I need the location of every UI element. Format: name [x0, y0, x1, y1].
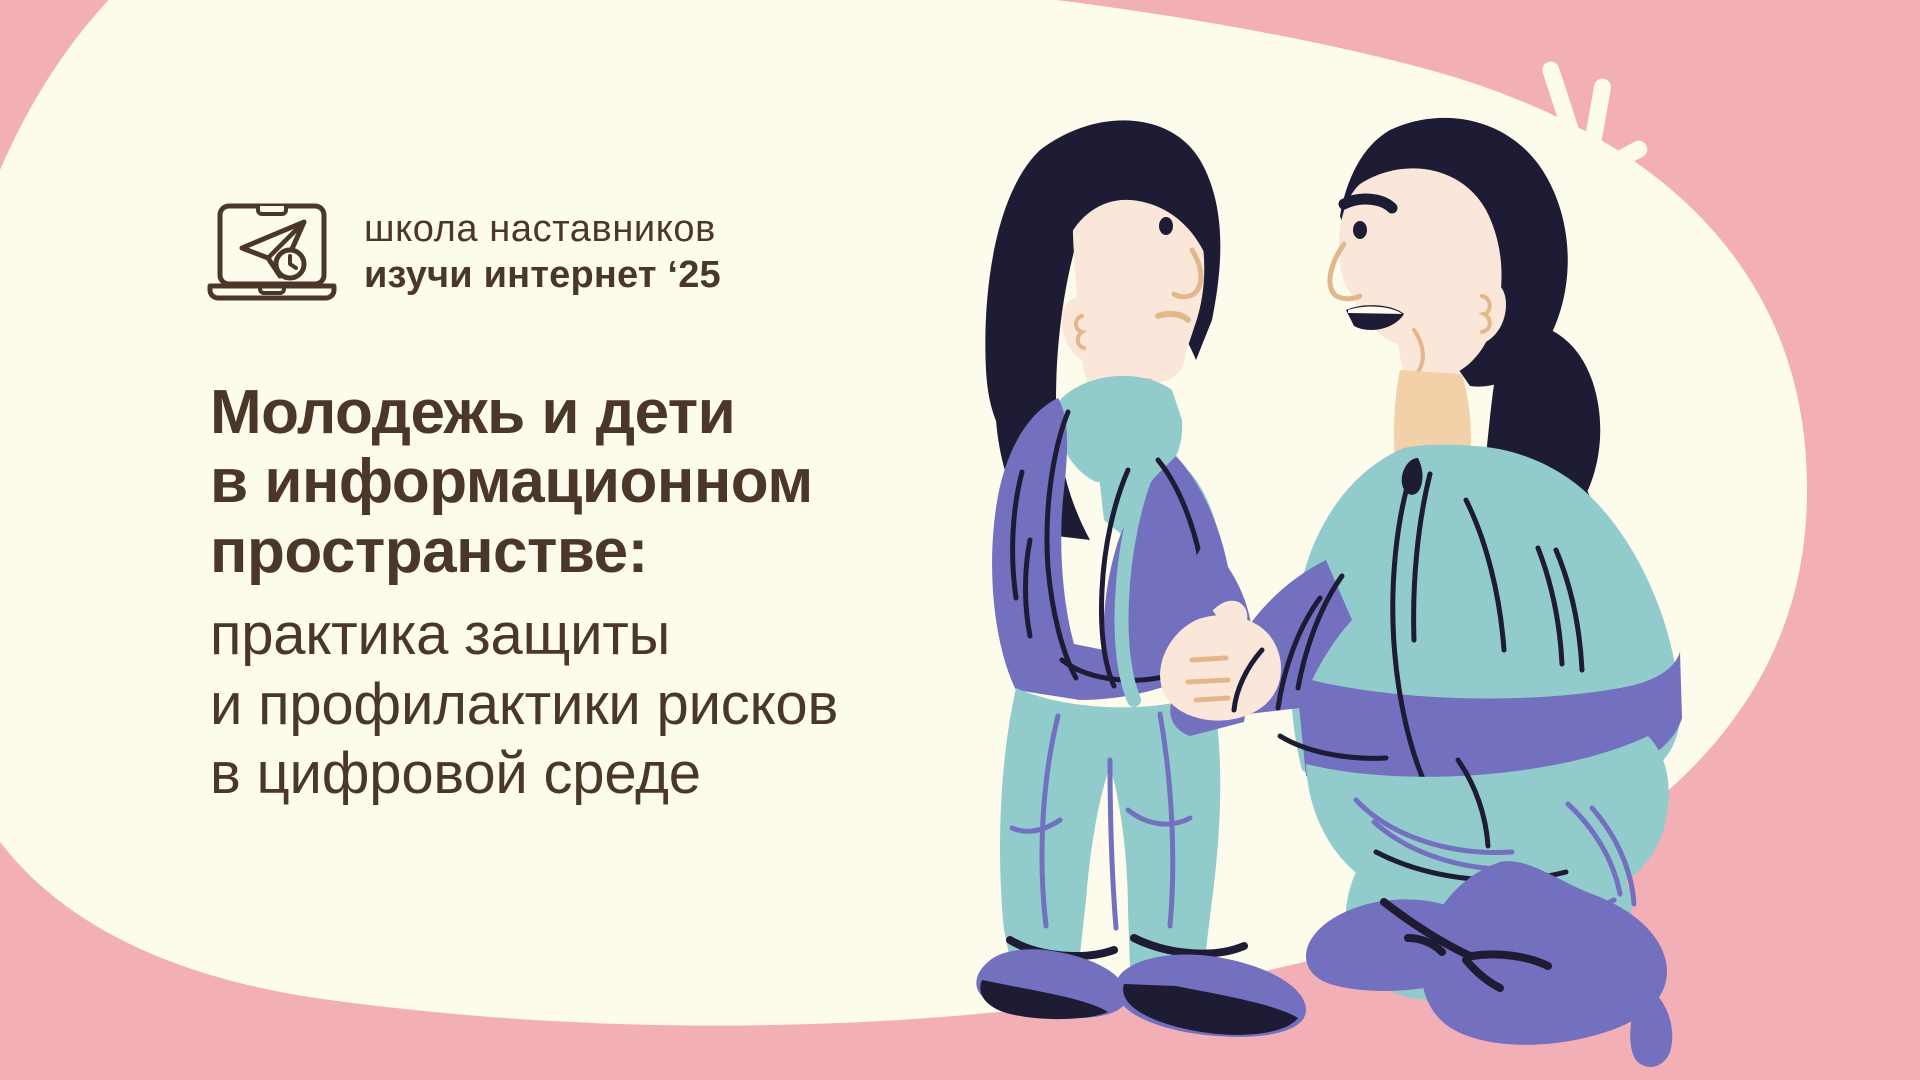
brand-name-line-1: школа наставников	[364, 210, 721, 248]
page-title: Молодежь и дети в информационном простра…	[210, 378, 1090, 586]
page-title-line-3: пространстве:	[210, 517, 1090, 586]
laptop-paper-plane-clock-icon	[206, 196, 338, 308]
poster-canvas: школа наставников изучи интернет ‘25 Мол…	[0, 0, 1920, 1080]
brand-logo-text: школа наставников изучи интернет ‘25	[364, 210, 721, 294]
brand-name-line-2: изучи интернет ‘25	[364, 256, 721, 294]
page-subtitle-line-3: в цифровой среде	[210, 739, 1110, 809]
page-subtitle-line-2: и профилактики рисков	[210, 670, 1110, 740]
page-title-line-1: Молодежь и дети	[210, 378, 1090, 447]
page-title-line-2: в информационном	[210, 447, 1090, 516]
content-layer: школа наставников изучи интернет ‘25 Мол…	[0, 0, 1920, 1080]
page-subtitle-line-1: практика защиты	[210, 600, 1110, 670]
page-subtitle: практика защиты и профилактики рисков в …	[210, 600, 1110, 809]
brand-logo[interactable]: школа наставников изучи интернет ‘25	[206, 196, 721, 308]
